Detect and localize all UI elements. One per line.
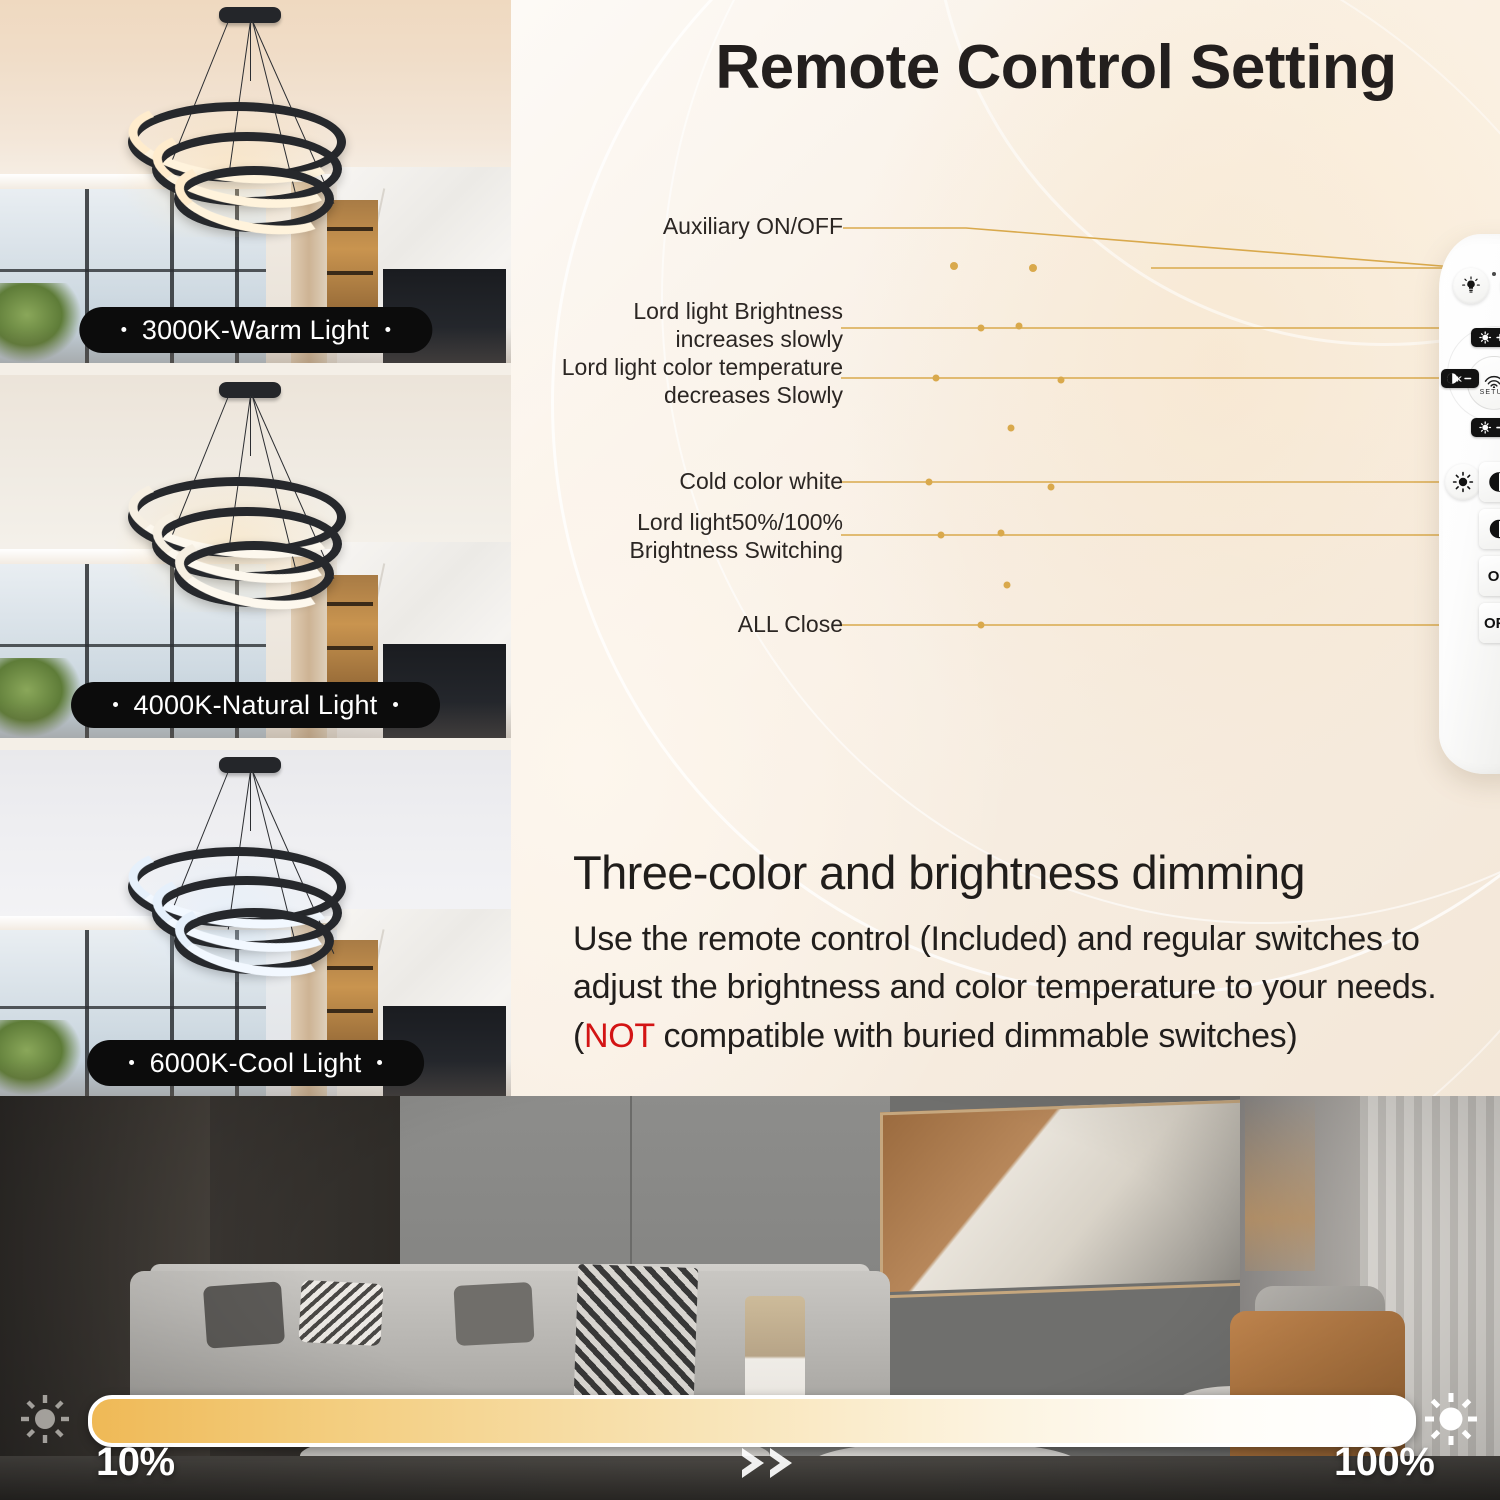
infographic-page: 3000K-Warm Light xyxy=(0,0,1500,1500)
badge-dot-left xyxy=(121,327,126,332)
section-heading: Three-color and brightness dimming xyxy=(573,845,1483,900)
on-button[interactable]: ON xyxy=(1479,556,1500,596)
callout-left-cold-white: Cold color white xyxy=(531,467,843,495)
setup-label: SETUP xyxy=(1480,389,1500,396)
badge-label: 3000K-Warm Light xyxy=(142,315,369,345)
left-gallery: 3000K-Warm Light xyxy=(0,0,511,1096)
ir-led-icon xyxy=(1492,272,1496,276)
badge-label: 6000K-Cool Light xyxy=(150,1048,362,1078)
callout-left-aux-onoff: Auxiliary ON/OFF xyxy=(531,212,843,240)
callout-left-temp-down: Lord light color temperature decreases S… xyxy=(511,353,843,409)
page-title: Remote Control Setting xyxy=(616,32,1496,103)
callout-left-brightness-switch: Lord light50%/100% Brightness Switching xyxy=(531,508,843,564)
contrast-icon[interactable] xyxy=(1479,509,1500,549)
badge-color-temp: 3000K-Warm Light xyxy=(79,307,432,353)
svg-text:K: K xyxy=(1456,375,1462,384)
gallery-item-warm: 3000K-Warm Light xyxy=(0,0,511,363)
chandelier-natural xyxy=(100,382,400,687)
callout-left-all-close: ALL Close xyxy=(531,610,843,638)
chandelier-cool xyxy=(100,757,400,1048)
section-body: Use the remote control (Included) and re… xyxy=(573,915,1473,1060)
badge-label: 4000K-Natural Light xyxy=(134,690,378,720)
brightness-down-icon[interactable] xyxy=(1471,418,1500,437)
body-emphasis: NOT xyxy=(584,1017,654,1055)
brightness-slider[interactable] xyxy=(88,1395,1416,1447)
dim-sun-icon xyxy=(16,1390,74,1448)
body-after: compatible with buried dimmable switches… xyxy=(654,1017,1297,1055)
max-brightness-label: 100% xyxy=(1334,1440,1434,1485)
callout-left-brightness-up: Lord light Brightness increases slowly xyxy=(531,297,843,353)
remote-body xyxy=(1439,234,1500,774)
chandelier-warm xyxy=(100,7,400,312)
badge-dot-right xyxy=(393,702,398,707)
badge-dot-left xyxy=(129,1060,134,1065)
badge-dot-right xyxy=(385,327,390,332)
title-rest: Control Setting xyxy=(940,33,1397,102)
kelvin-toggle-icon[interactable]: K xyxy=(1479,462,1500,502)
badge-color-temp: 4000K-Natural Light xyxy=(71,682,441,728)
badge-dot-left xyxy=(113,702,118,707)
cold-sun-icon[interactable] xyxy=(1445,464,1481,500)
gallery-item-cool: 6000K-Cool Light xyxy=(0,750,511,1096)
badge-color-temp: 6000K-Cool Light xyxy=(87,1040,425,1086)
min-brightness-label: 10% xyxy=(96,1440,175,1485)
badge-dot-right xyxy=(377,1060,382,1065)
bulb-icon[interactable] xyxy=(1453,268,1489,304)
gallery-item-natural: 4000K-Natural Light xyxy=(0,375,511,738)
title-highlight: Remote xyxy=(715,32,939,103)
remote-control: SETUP K K xyxy=(1439,234,1500,774)
brightness-up-icon[interactable] xyxy=(1471,328,1500,347)
remote-diagram-panel: Remote Control Setting xyxy=(511,0,1500,1096)
off-button[interactable]: OFF xyxy=(1479,603,1500,643)
kelvin-minus-icon[interactable]: K xyxy=(1441,369,1479,388)
double-chevron-right-icon xyxy=(738,1444,808,1482)
